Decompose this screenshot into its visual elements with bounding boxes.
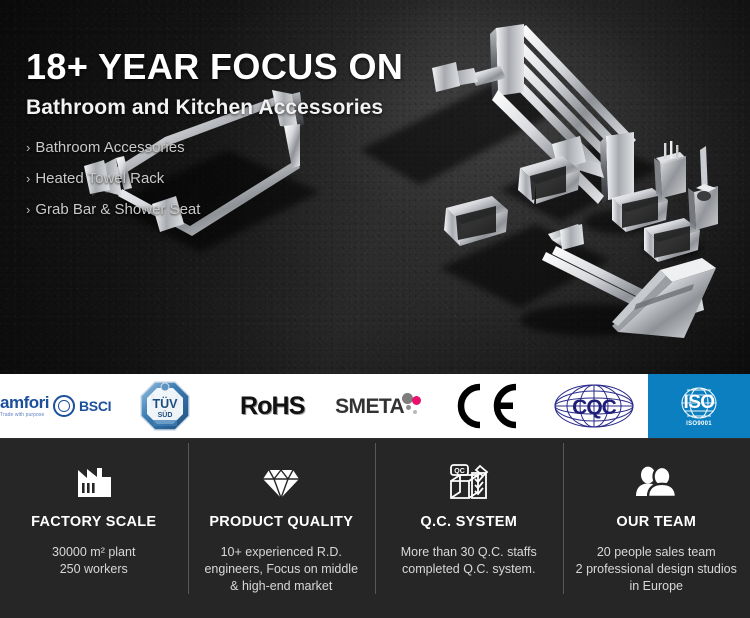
feature-line: engineers, Focus on middle	[204, 561, 358, 578]
hero-section: 18+ YEAR FOCUS ON Bathroom and Kitchen A…	[0, 0, 750, 374]
square-ring-holder-a	[612, 188, 668, 232]
feature-description: 30000 m² plant 250 workers	[42, 544, 145, 578]
bsci-wordmark: BSCI	[79, 398, 111, 414]
cqc-logo: CQC	[553, 383, 635, 429]
features-section: FACTORY SCALE 30000 m² plant 250 workers…	[0, 438, 750, 618]
tuv-octagon-icon: TÜV SÜD	[139, 380, 191, 432]
cert-amfori-bsci: amfori Trade with purpose BSCI	[0, 374, 111, 438]
square-ring-holder-b	[644, 218, 700, 262]
feature-description: More than 30 Q.C. staffs completed Q.C. …	[391, 544, 547, 578]
cert-tuv-sud: TÜV SÜD	[111, 374, 218, 438]
bullet-label: Heated Towel Rack	[35, 171, 164, 186]
iso-logo: ISO ISO9001	[671, 386, 727, 427]
feature-line: 30000 m² plant	[52, 544, 135, 561]
iso-standard-label: ISO9001	[686, 421, 712, 427]
smeta-wordmark: SMETA	[335, 395, 404, 419]
hero-subtitle: Bathroom and Kitchen Accessories	[26, 96, 403, 120]
multi-bar-towel-rack	[432, 24, 636, 204]
chevron-right-icon: ›	[26, 203, 30, 216]
feature-title: Q.C. SYSTEM	[420, 514, 517, 530]
hero-title: 18+ YEAR FOCUS ON	[26, 48, 403, 86]
feature-description: 20 people sales team 2 professional desi…	[566, 544, 747, 595]
iso-wordmark: ISO	[684, 392, 715, 414]
paper-holder-lower	[444, 196, 508, 246]
bullet-label: Grab Bar & Shower Seat	[35, 202, 200, 217]
feature-title: OUR TEAM	[616, 514, 696, 530]
toilet-brush-holder	[688, 146, 718, 230]
qc-clipboard-icon: QC	[447, 460, 491, 504]
svg-text:QC: QC	[454, 468, 465, 475]
bullet-label: Bathroom Accessories	[35, 140, 184, 155]
feature-line: 10+ experienced R.D.	[204, 544, 358, 561]
team-people-icon	[633, 460, 679, 504]
list-item: › Grab Bar & Shower Seat	[26, 202, 403, 217]
feature-line: 250 workers	[52, 561, 135, 578]
svg-text:CQC: CQC	[572, 396, 617, 419]
amfori-bsci-logo: amfori Trade with purpose BSCI	[0, 394, 111, 418]
promo-banner: 18+ YEAR FOCUS ON Bathroom and Kitchen A…	[0, 0, 750, 618]
amfori-tagline: Trade with purpose	[0, 413, 49, 418]
cqc-globe-icon: CQC	[553, 383, 635, 429]
feature-line: in Europe	[576, 578, 737, 595]
hero-bullet-list: › Bathroom Accessories › Heated Towel Ra…	[26, 140, 403, 217]
feature-our-team: OUR TEAM 20 people sales team 2 professi…	[563, 439, 750, 618]
chevron-right-icon: ›	[26, 172, 30, 185]
iso-globe-icon: ISO	[671, 386, 727, 420]
certification-logo-band: amfori Trade with purpose BSCI	[0, 374, 750, 438]
feature-description: 10+ experienced R.D. engineers, Focus on…	[194, 544, 368, 595]
grab-bar	[542, 224, 704, 326]
amfori-spiral-icon	[53, 395, 75, 417]
tumbler-holder	[654, 141, 686, 198]
cert-cqc: CQC	[541, 374, 648, 438]
shower-seat-shelf	[612, 258, 716, 338]
diamond-icon	[261, 460, 301, 504]
smeta-logo: SMETA	[335, 393, 424, 419]
feature-title: FACTORY SCALE	[31, 514, 156, 530]
feature-factory-scale: FACTORY SCALE 30000 m² plant 250 workers	[0, 439, 188, 618]
feature-line: 2 professional design studios	[576, 561, 737, 578]
list-item: › Heated Towel Rack	[26, 171, 403, 186]
paper-holder-upper	[518, 156, 580, 204]
amfori-wordmark: amfori	[0, 394, 49, 411]
feature-line: completed Q.C. system.	[401, 561, 537, 578]
list-item: › Bathroom Accessories	[26, 140, 403, 155]
ce-marking-logo	[450, 383, 524, 429]
feature-product-quality: PRODUCT QUALITY 10+ experienced R.D. eng…	[188, 439, 376, 618]
feature-line: 20 people sales team	[576, 544, 737, 561]
svg-text:SÜD: SÜD	[158, 410, 173, 419]
cert-iso: ISO ISO9001	[648, 374, 750, 438]
feature-line: & high-end market	[204, 578, 358, 595]
smeta-dots-icon	[402, 393, 424, 419]
feature-qc-system: QC Q.C. SYSTEM More than 30 Q.C. staffs …	[375, 439, 563, 618]
feature-title: PRODUCT QUALITY	[209, 514, 353, 530]
svg-text:TÜV: TÜV	[152, 396, 178, 411]
factory-icon	[74, 460, 114, 504]
chevron-right-icon: ›	[26, 141, 30, 154]
tuv-sud-logo: TÜV SÜD	[139, 380, 191, 432]
rohs-logo: RoHS	[240, 392, 304, 421]
feature-line: More than 30 Q.C. staffs	[401, 544, 537, 561]
hero-copy: 18+ YEAR FOCUS ON Bathroom and Kitchen A…	[26, 48, 403, 233]
cert-rohs: RoHS	[219, 374, 326, 438]
cert-ce	[433, 374, 540, 438]
cert-smeta: SMETA	[326, 374, 433, 438]
